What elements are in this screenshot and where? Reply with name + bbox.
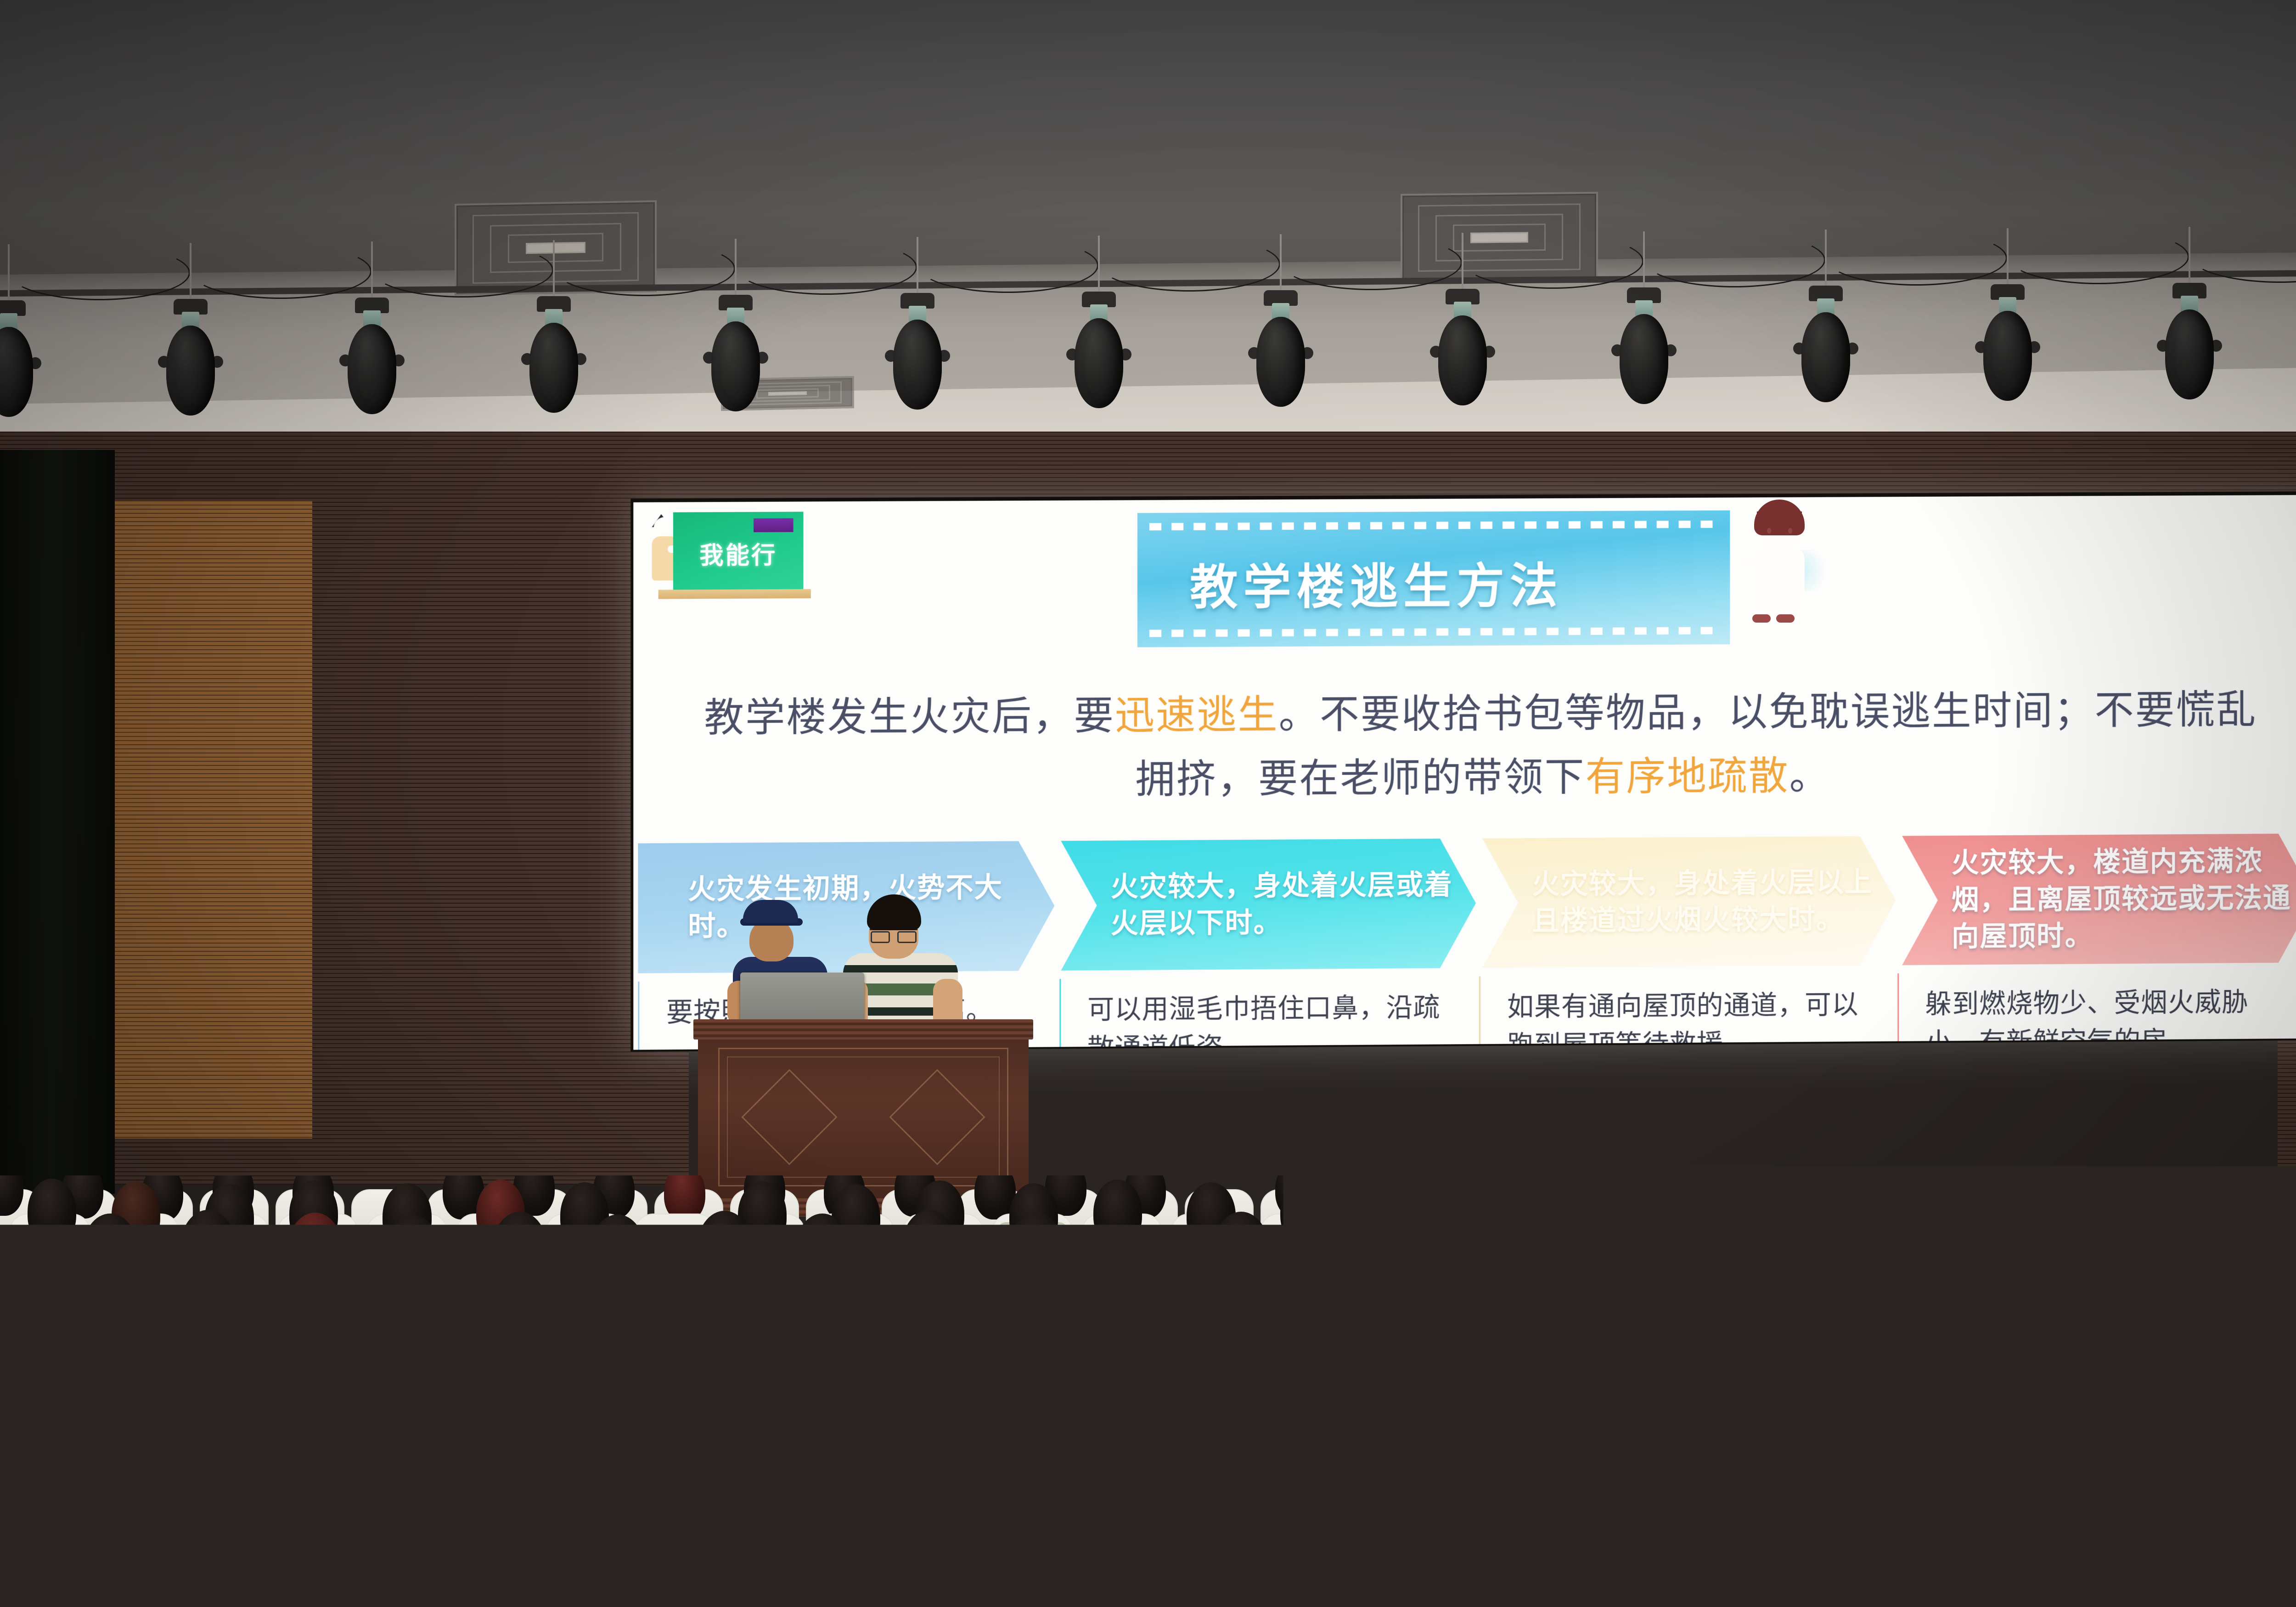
stage-light xyxy=(1617,290,1671,405)
stage-floor-sheen xyxy=(0,1056,2296,1194)
hanging-cable xyxy=(1280,235,1462,290)
audience-member xyxy=(1093,1180,1142,1246)
audience-member xyxy=(1758,1339,1836,1449)
chalkboard-graphic: 我能行 xyxy=(651,503,804,607)
audience-member xyxy=(579,1388,664,1507)
audience-member xyxy=(1463,1340,1541,1450)
stage-light xyxy=(1435,292,1490,406)
chevron-condition-text: 火灾较大，楼道内充满浓烟，且离屋顶较远或无法通向屋顶时。 xyxy=(1902,843,2296,956)
slide-text-segment: 。 xyxy=(1790,753,1830,799)
auditorium-scene: 我能行 教学楼逃生方法 教学楼发生火灾后，要迅速逃生。不要收拾书包等物品，以免耽… xyxy=(0,0,2296,1607)
hanging-cable xyxy=(2007,229,2189,284)
audience-member xyxy=(901,1210,957,1287)
audience-member xyxy=(1721,1213,1777,1290)
hanging-cable xyxy=(1825,230,2007,286)
audience-member xyxy=(1516,1214,1572,1291)
wall-panel-center-upper xyxy=(634,432,2287,500)
audience-member xyxy=(1225,1442,1318,1573)
stage-light xyxy=(163,302,218,416)
slide-body-text: 教学楼发生火灾后，要迅速逃生。不要收拾书包等物品，以免耽误逃生时间；不要慌乱拥挤… xyxy=(703,678,2258,815)
audience-member xyxy=(1656,1175,1698,1219)
stage-light xyxy=(0,303,36,418)
detail-column-text: 如果有通向屋顶的通道，可以跑到屋顶等待救援 xyxy=(1507,985,1878,1050)
detail-column: 如果有通向屋顶的通道，可以跑到屋顶等待救援 xyxy=(1479,973,1897,1050)
power-adapter xyxy=(449,1144,493,1163)
slide-text-segment: 教学楼发生火灾后，要 xyxy=(704,693,1114,741)
hanging-cable xyxy=(553,241,735,296)
audience-member xyxy=(28,1179,76,1245)
hanging-cable xyxy=(8,245,190,300)
audience-member xyxy=(1896,1342,1975,1451)
audience-member xyxy=(1610,1337,1689,1446)
audience-member xyxy=(1073,1247,1137,1335)
detail-column: 可以用湿毛巾捂住口鼻，沿疏散通道低姿 xyxy=(1059,976,1479,1050)
audience-member xyxy=(170,1341,248,1450)
audience-member xyxy=(2122,1253,2185,1341)
audience-seating xyxy=(0,1175,2296,1607)
chevron-condition-text: 火灾较大，身处着火层或着火层以下时。 xyxy=(1061,866,1476,943)
audience-member xyxy=(1139,1291,1210,1389)
hanging-cable xyxy=(1098,236,1280,292)
chevron-banner: 火灾较大，身处着火层或着火层以下时。 xyxy=(1061,838,1476,971)
detail-column-text: 可以用湿毛巾捂住口鼻，沿疏散通道低姿 xyxy=(1087,988,1460,1050)
stage-light xyxy=(1254,293,1308,408)
hanging-cable xyxy=(1462,234,1644,289)
slide-text-highlight: 有序地疏散 xyxy=(1585,753,1789,800)
chevron-banner: 火灾较大，身处着火层以上且楼道过火烟火较大时。 xyxy=(1482,836,1896,968)
stage-light xyxy=(890,296,945,410)
hanging-cable xyxy=(190,244,372,299)
hanging-cable xyxy=(371,242,553,298)
slide-title-banner: 教学楼逃生方法 xyxy=(1137,511,1730,647)
audience-member xyxy=(730,1252,793,1340)
chevron-condition-text: 火灾较大，身处着火层以上且楼道过火烟火较大时。 xyxy=(1482,864,1896,940)
audience-member xyxy=(794,1214,850,1291)
auditorium-seat[interactable] xyxy=(1199,1566,1367,1607)
chalkboard: 我能行 xyxy=(673,512,804,591)
laptop[interactable] xyxy=(740,972,864,1024)
audience-member xyxy=(2084,1184,2133,1251)
audience-member xyxy=(1398,1290,1469,1388)
cartoon-kid-waving-icon xyxy=(1740,500,1818,656)
hanging-cable xyxy=(917,238,1099,293)
stage-light xyxy=(1981,287,2035,402)
wall-panel-left-lit xyxy=(115,500,312,1139)
chalkboard-purple-block xyxy=(754,518,793,532)
stage-light xyxy=(709,298,763,412)
hanging-cable xyxy=(735,240,917,295)
detail-column-text: 躲到燃烧物少、受烟火威胁小、有新鲜空气的房 xyxy=(1925,983,2295,1050)
hanging-cable xyxy=(1643,232,1825,287)
chalkboard-ledge xyxy=(658,589,811,599)
stage-light xyxy=(1799,288,1853,403)
chevron-banner: 火灾较大，楼道内充满浓烟，且离屋顶较远或无法通向屋顶时。 xyxy=(1902,833,2296,965)
audience-member xyxy=(1264,1293,1335,1392)
stage-light xyxy=(527,299,581,414)
detail-column: 躲到燃烧物少、受烟火威胁小、有新鲜空气的房 xyxy=(1897,971,2296,1050)
audience-member xyxy=(1364,1181,1413,1248)
audience-member xyxy=(287,1213,343,1290)
stage-light xyxy=(2162,286,2217,400)
audience-member xyxy=(1506,1175,1547,1219)
slide-title: 教学楼逃生方法 xyxy=(1137,547,1615,618)
audience-member xyxy=(1991,1181,2040,1248)
slide-text-highlight: 迅速逃生 xyxy=(1115,692,1279,739)
chalkboard-label: 我能行 xyxy=(673,536,804,571)
stage-light xyxy=(1072,294,1126,409)
audience-member xyxy=(77,1235,142,1304)
stage-light xyxy=(345,300,399,415)
